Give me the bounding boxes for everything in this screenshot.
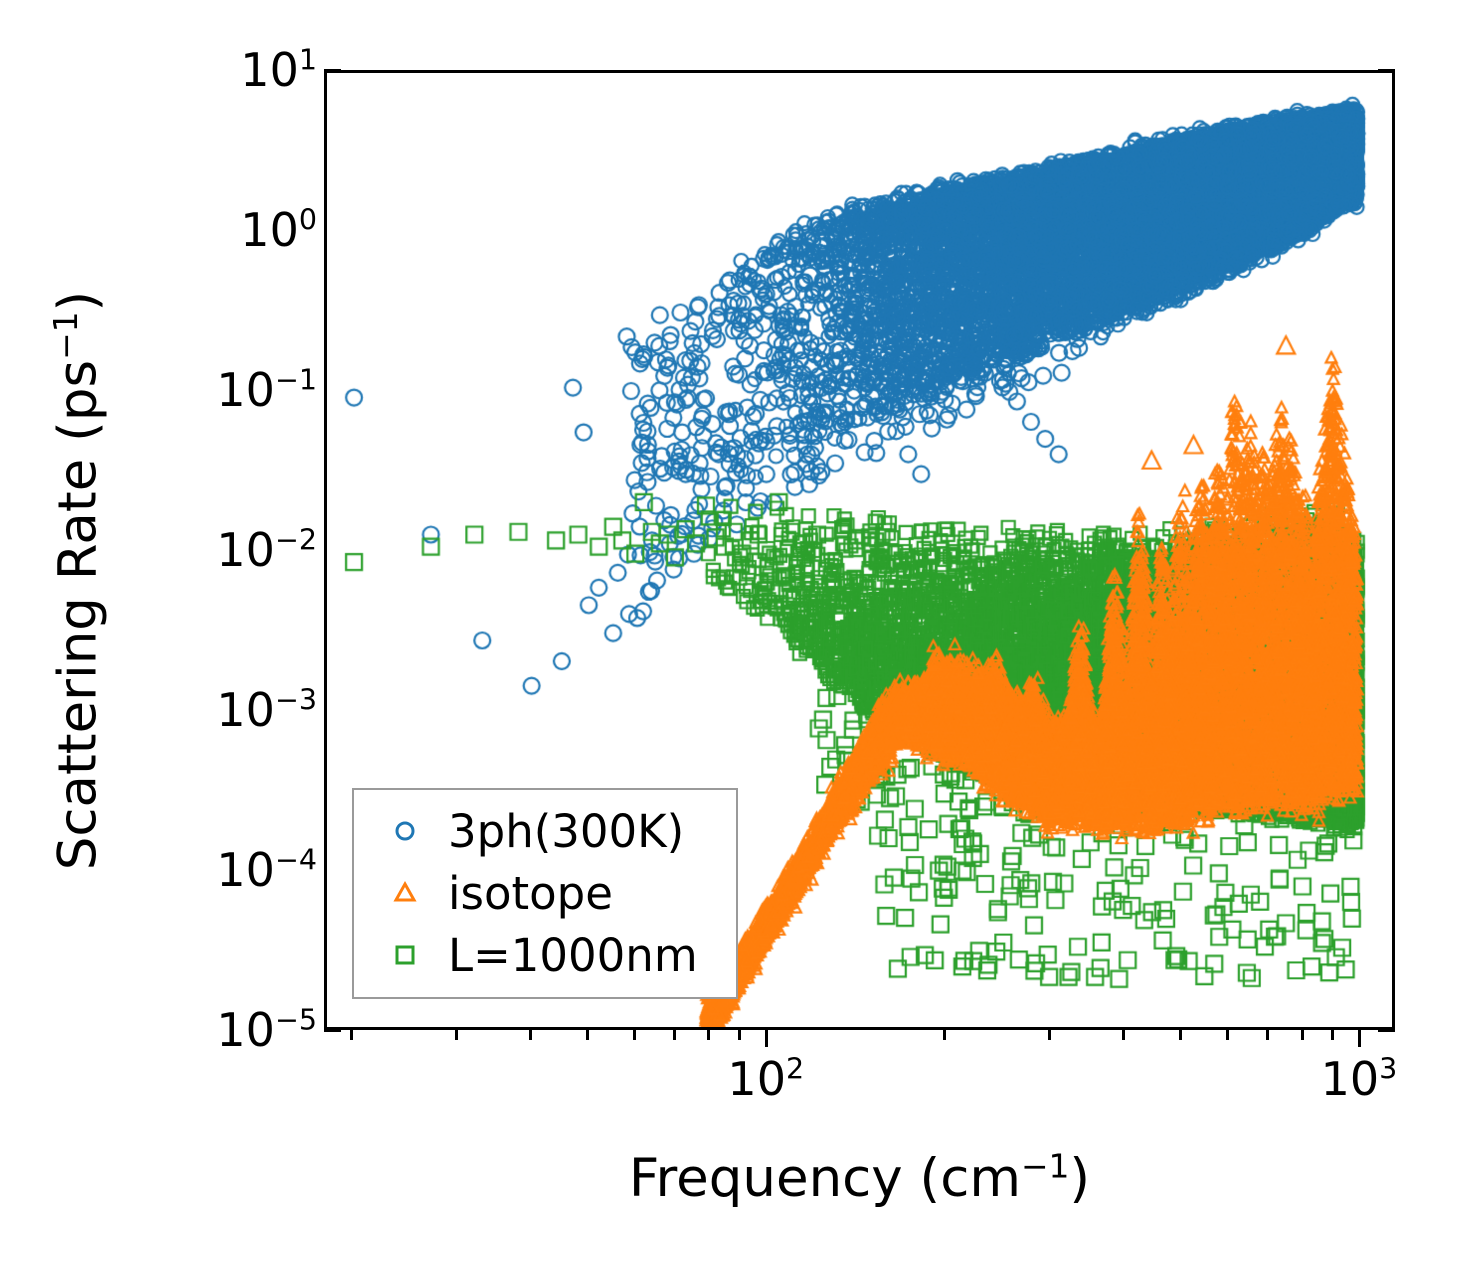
x-axis-title: Frequency (cm−1) <box>324 1148 1395 1209</box>
tick-mark <box>1301 1030 1304 1040</box>
x-tick-label: 103 <box>1321 1056 1398 1102</box>
tick-mark <box>455 1030 458 1040</box>
legend-item-isotope[interactable]: isotope <box>354 862 736 924</box>
y-tick-label: 10−2 <box>216 527 317 573</box>
tick-mark <box>1048 1030 1051 1040</box>
y-tick-label: 10−5 <box>216 1007 317 1053</box>
y-axis-title: Scattering Rate (ps−1) <box>48 181 109 981</box>
tick-mark <box>738 1030 741 1040</box>
tick-mark <box>673 1030 676 1040</box>
legend-box: 3ph(300K) isotope L=1000nm <box>352 788 738 999</box>
tick-mark <box>633 1030 636 1040</box>
tick-mark <box>529 1030 532 1040</box>
tick-mark <box>943 1030 946 1040</box>
y-tick-label: 100 <box>240 207 317 253</box>
y-tick-label: 10−4 <box>216 847 317 893</box>
triangle-marker-icon <box>362 880 448 906</box>
tick-mark <box>350 1030 353 1040</box>
tick-mark <box>765 1030 768 1047</box>
legend-label-isotope: isotope <box>448 871 613 916</box>
figure-canvas: Scattering Rate (ps−1) 10110010−110−210−… <box>0 0 1457 1279</box>
circle-marker-icon <box>362 818 448 844</box>
tick-mark <box>707 1030 710 1040</box>
tick-mark <box>1358 1030 1361 1047</box>
tick-mark <box>1266 1030 1269 1040</box>
tick-mark <box>1179 1030 1182 1040</box>
legend-item-boundary[interactable]: L=1000nm <box>354 924 736 986</box>
tick-mark <box>1226 1030 1229 1040</box>
y-tick-label: 10−3 <box>216 687 317 733</box>
legend-label-boundary: L=1000nm <box>448 933 698 978</box>
legend-label-3ph: 3ph(300K) <box>448 809 684 854</box>
square-marker-icon <box>362 942 448 968</box>
y-tick-label: 101 <box>240 47 317 93</box>
tick-mark <box>586 1030 589 1040</box>
y-tick-label: 10−1 <box>216 367 317 413</box>
x-tick-label: 102 <box>727 1056 804 1102</box>
legend-item-3ph[interactable]: 3ph(300K) <box>354 800 736 862</box>
tick-mark <box>1331 1030 1334 1040</box>
tick-mark <box>1122 1030 1125 1040</box>
